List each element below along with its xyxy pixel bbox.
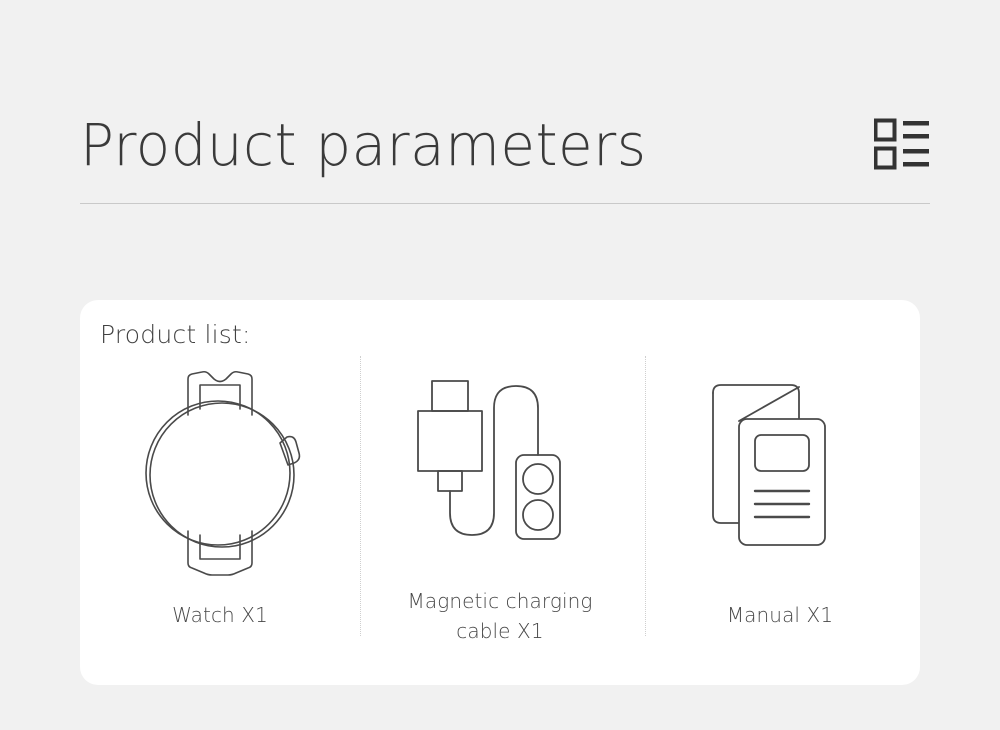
list-item: Manual X1 (640, 348, 920, 685)
list-view-icon[interactable] (874, 118, 930, 170)
product-list-card: Product list: (80, 300, 920, 685)
list-item-caption: Watch X1 (172, 600, 268, 630)
product-list-columns: Watch X1 (80, 348, 920, 685)
list-item-caption: Manual X1 (727, 600, 833, 630)
header-divider (80, 203, 930, 204)
product-list-title: Product list: (100, 320, 251, 349)
page-title: Product parameters (80, 100, 647, 190)
manual-booklet-illustration (695, 348, 865, 598)
list-item: Watch X1 (80, 348, 360, 685)
caption-line-1: Magnetic charging (408, 586, 593, 616)
list-item: Magnetic charging cable X1 (360, 348, 640, 685)
smartwatch-illustration (130, 348, 310, 598)
list-item-caption: Magnetic charging cable X1 (408, 586, 593, 646)
caption-line-2: cable X1 (408, 616, 593, 646)
magnetic-charging-cable-illustration (410, 348, 590, 598)
page-header: Product parameters (80, 100, 930, 205)
